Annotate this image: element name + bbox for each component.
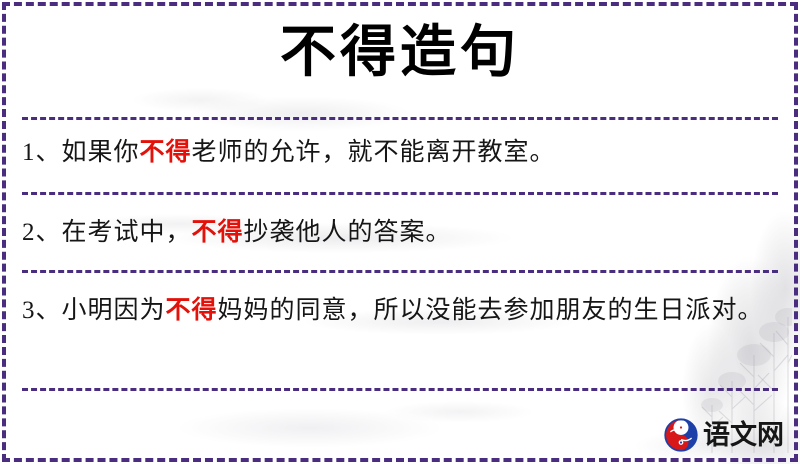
- sentence-after-2: 抄袭他人的答案。: [244, 219, 452, 246]
- yinyang-fish-logo-icon: [664, 418, 698, 452]
- site-logo[interactable]: 语文网: [664, 418, 784, 452]
- sentence-index-1: 1、: [22, 139, 62, 166]
- sentence-before-2: 在考试中，: [62, 219, 192, 246]
- sentence-item-3: 3、小明因为不得妈妈的同意，所以没能去参加朋友的生日派对。: [22, 290, 778, 332]
- sentence-before-3: 小明因为: [62, 297, 166, 324]
- site-logo-text: 语文网: [703, 422, 784, 449]
- sentence-item-2: 2、在考试中，不得抄袭他人的答案。: [22, 212, 778, 254]
- highlight-word-3: 不得: [166, 297, 218, 324]
- sentence-after-1: 老师的允许，就不能离开教室。: [192, 139, 556, 166]
- slide-page: 不得造句 1、如果你不得老师的允许，就不能离开教室。 2、在考试中，不得抄袭他人…: [0, 0, 800, 464]
- sentence-index-2: 2、: [22, 219, 62, 246]
- highlight-word-1: 不得: [140, 139, 192, 166]
- sentence-list: 1、如果你不得老师的允许，就不能离开教室。 2、在考试中，不得抄袭他人的答案。 …: [0, 0, 800, 464]
- sentence-item-1: 1、如果你不得老师的允许，就不能离开教室。: [22, 132, 778, 174]
- sentence-before-1: 如果你: [62, 139, 140, 166]
- sentence-after-3: 妈妈的同意，所以没能去参加朋友的生日派对。: [218, 297, 764, 324]
- highlight-word-2: 不得: [192, 219, 244, 246]
- sentence-index-3: 3、: [22, 297, 62, 324]
